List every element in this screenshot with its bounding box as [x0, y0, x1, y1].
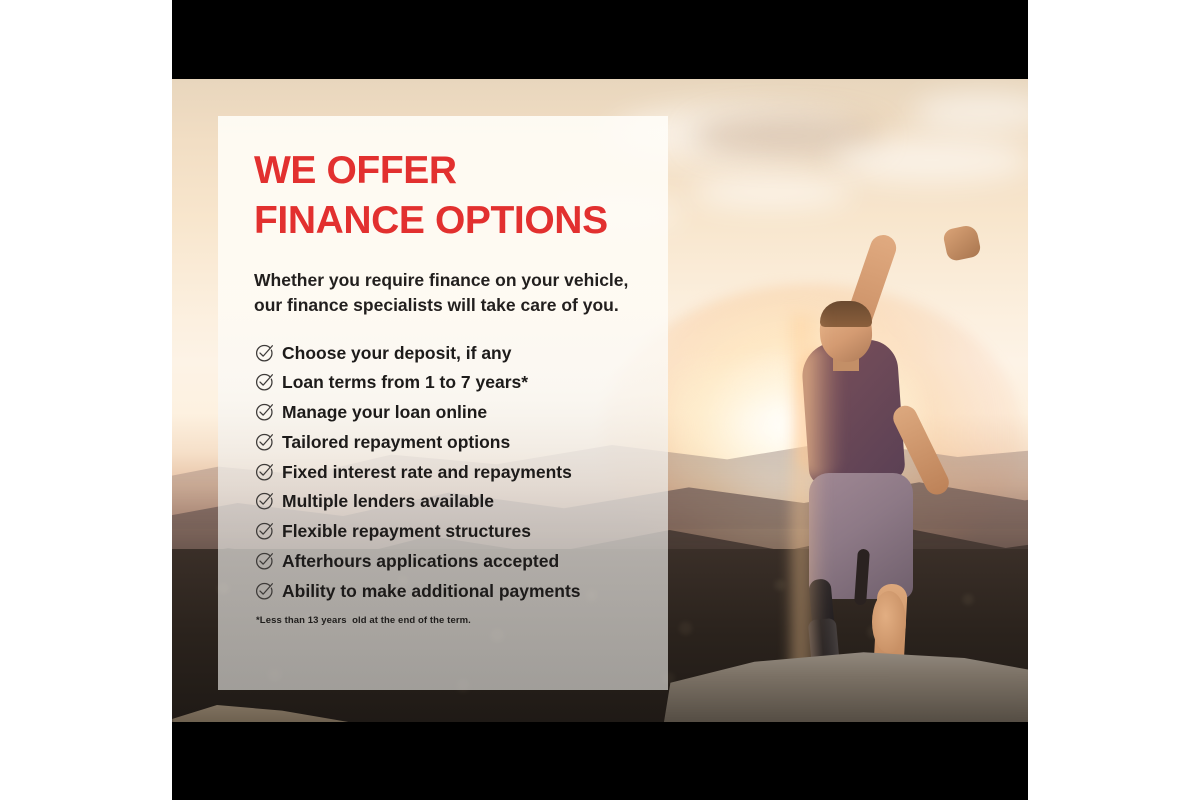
list-item-label: Multiple lenders available [282, 492, 494, 511]
list-item: Loan terms from 1 to 7 years* [254, 373, 634, 392]
check-circle-icon [254, 433, 273, 452]
list-item: Ability to make additional payments [254, 582, 634, 601]
hero-photograph: WE OFFER FINANCE OPTIONS Whether you req… [172, 79, 1028, 722]
list-item-label: Ability to make additional payments [282, 582, 581, 601]
list-item-label: Choose your deposit, if any [282, 344, 511, 363]
list-item-label: Tailored repayment options [282, 433, 510, 452]
list-item: Flexible repayment structures [254, 522, 634, 541]
list-item-label: Fixed interest rate and repayments [282, 463, 572, 482]
check-circle-icon [254, 373, 273, 392]
letterbox-frame: WE OFFER FINANCE OPTIONS Whether you req… [172, 0, 1028, 800]
check-circle-icon [254, 522, 273, 541]
list-item: Choose your deposit, if any [254, 344, 634, 363]
page-title: WE OFFER FINANCE OPTIONS [254, 146, 634, 246]
check-circle-icon [254, 492, 273, 511]
list-item-label: Loan terms from 1 to 7 years* [282, 373, 528, 392]
check-circle-icon [254, 403, 273, 422]
footnote-text: *Less than 13 years old at the end of th… [256, 615, 634, 626]
list-item-label: Flexible repayment structures [282, 522, 531, 541]
hair [820, 301, 872, 327]
list-item: Afterhours applications accepted [254, 552, 634, 571]
check-circle-icon [254, 582, 273, 601]
calf [872, 591, 906, 653]
check-circle-icon [254, 344, 273, 363]
feature-list: Choose your deposit, if any Loan terms f… [254, 344, 634, 601]
list-item: Multiple lenders available [254, 492, 634, 511]
finance-options-panel: WE OFFER FINANCE OPTIONS Whether you req… [218, 116, 668, 690]
list-item-label: Manage your loan online [282, 403, 487, 422]
list-item: Manage your loan online [254, 403, 634, 422]
raised-fist [942, 224, 982, 262]
check-circle-icon [254, 552, 273, 571]
list-item: Tailored repayment options [254, 433, 634, 452]
check-circle-icon [254, 463, 273, 482]
list-item: Fixed interest rate and repayments [254, 463, 634, 482]
intro-paragraph: Whether you require finance on your vehi… [254, 268, 634, 318]
list-item-label: Afterhours applications accepted [282, 552, 559, 571]
poster-page: WE OFFER FINANCE OPTIONS Whether you req… [0, 0, 1200, 800]
